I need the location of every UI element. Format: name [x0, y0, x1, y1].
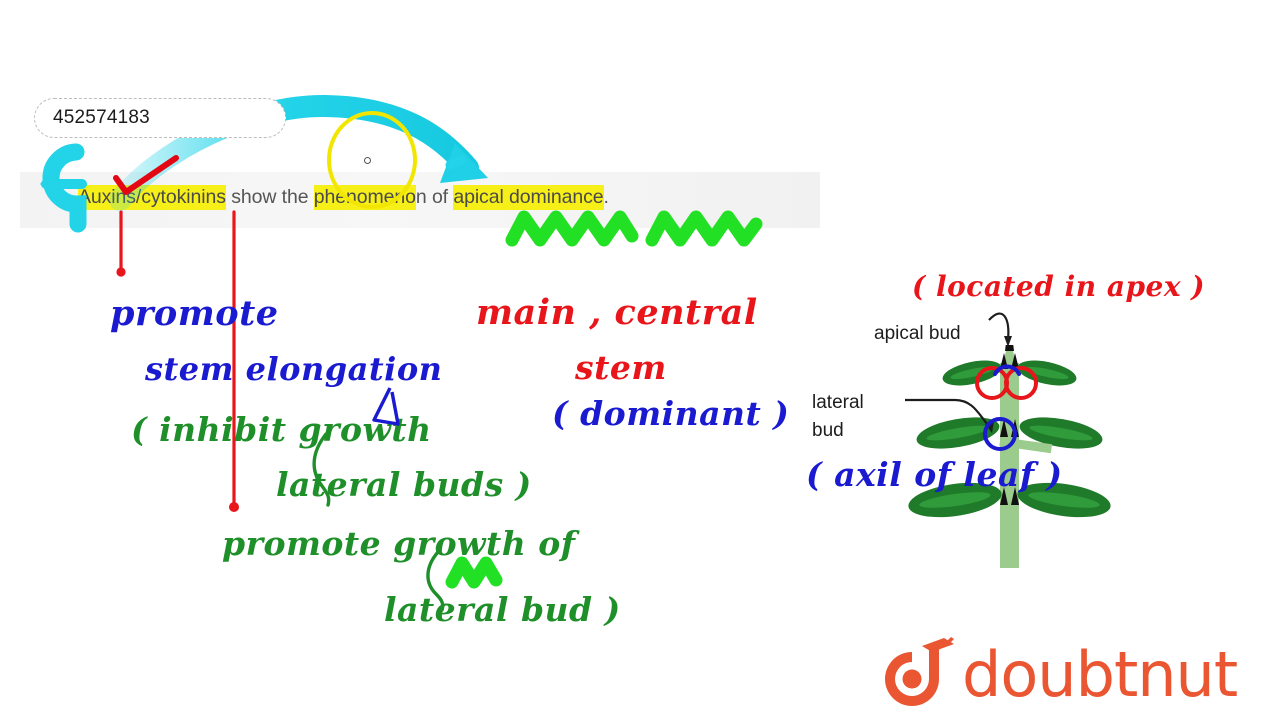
- annotation-lateral-bud: lateral bud ): [384, 590, 621, 629]
- annotation-lateral-buds: lateral buds ): [276, 465, 532, 504]
- statement-seg-3: n of: [416, 186, 453, 208]
- label-lateral-bud-line1: lateral: [812, 392, 864, 413]
- label-apical-bud: apical bud: [874, 323, 961, 344]
- question-id-chip: 452574183: [34, 98, 286, 138]
- annotation-promote-growth-of: promote growth of: [222, 524, 575, 563]
- annotation-axil-of-leaf: ( axil of leaf ): [806, 455, 1063, 494]
- statement-seg-2: phenomeno: [314, 185, 416, 210]
- annotation-stem: stem: [575, 348, 667, 387]
- lesson-frame: 452574183 Auxins/cytokinins show the phe…: [0, 0, 1280, 720]
- doubtnut-wordmark: doubtnut: [962, 644, 1237, 706]
- statement-seg-1: show the: [226, 186, 314, 208]
- apical-bud-leader-line: [989, 314, 1012, 347]
- annotation-stem-elongation: stem elongation: [145, 350, 442, 388]
- label-lateral-bud-line2: bud: [812, 420, 844, 441]
- cursor-pointer-dot: [364, 157, 371, 164]
- doubtnut-mark-icon: [872, 636, 956, 714]
- statement-seg-0: Auxins/cytokinins: [78, 185, 226, 210]
- statement-seg-4: apical dominance: [453, 185, 603, 210]
- doubtnut-logo: doubtnut: [872, 634, 1272, 716]
- annotation-located-in-apex: ( located in apex ): [912, 270, 1205, 303]
- statement-text: Auxins/cytokinins show the phenomenon of…: [78, 186, 609, 209]
- statement-seg-5: .: [604, 186, 609, 208]
- question-id-value: 452574183: [35, 107, 150, 129]
- annotation-main-central: main , central: [476, 292, 758, 333]
- annotation-dominant: ( dominant ): [552, 394, 789, 433]
- annotation-promote: promote: [110, 293, 279, 334]
- green-zigzag-small: [452, 563, 496, 582]
- annotation-inhibit-growth: ( inhibit growth: [131, 410, 432, 449]
- cyan-flick-mark: [450, 160, 462, 165]
